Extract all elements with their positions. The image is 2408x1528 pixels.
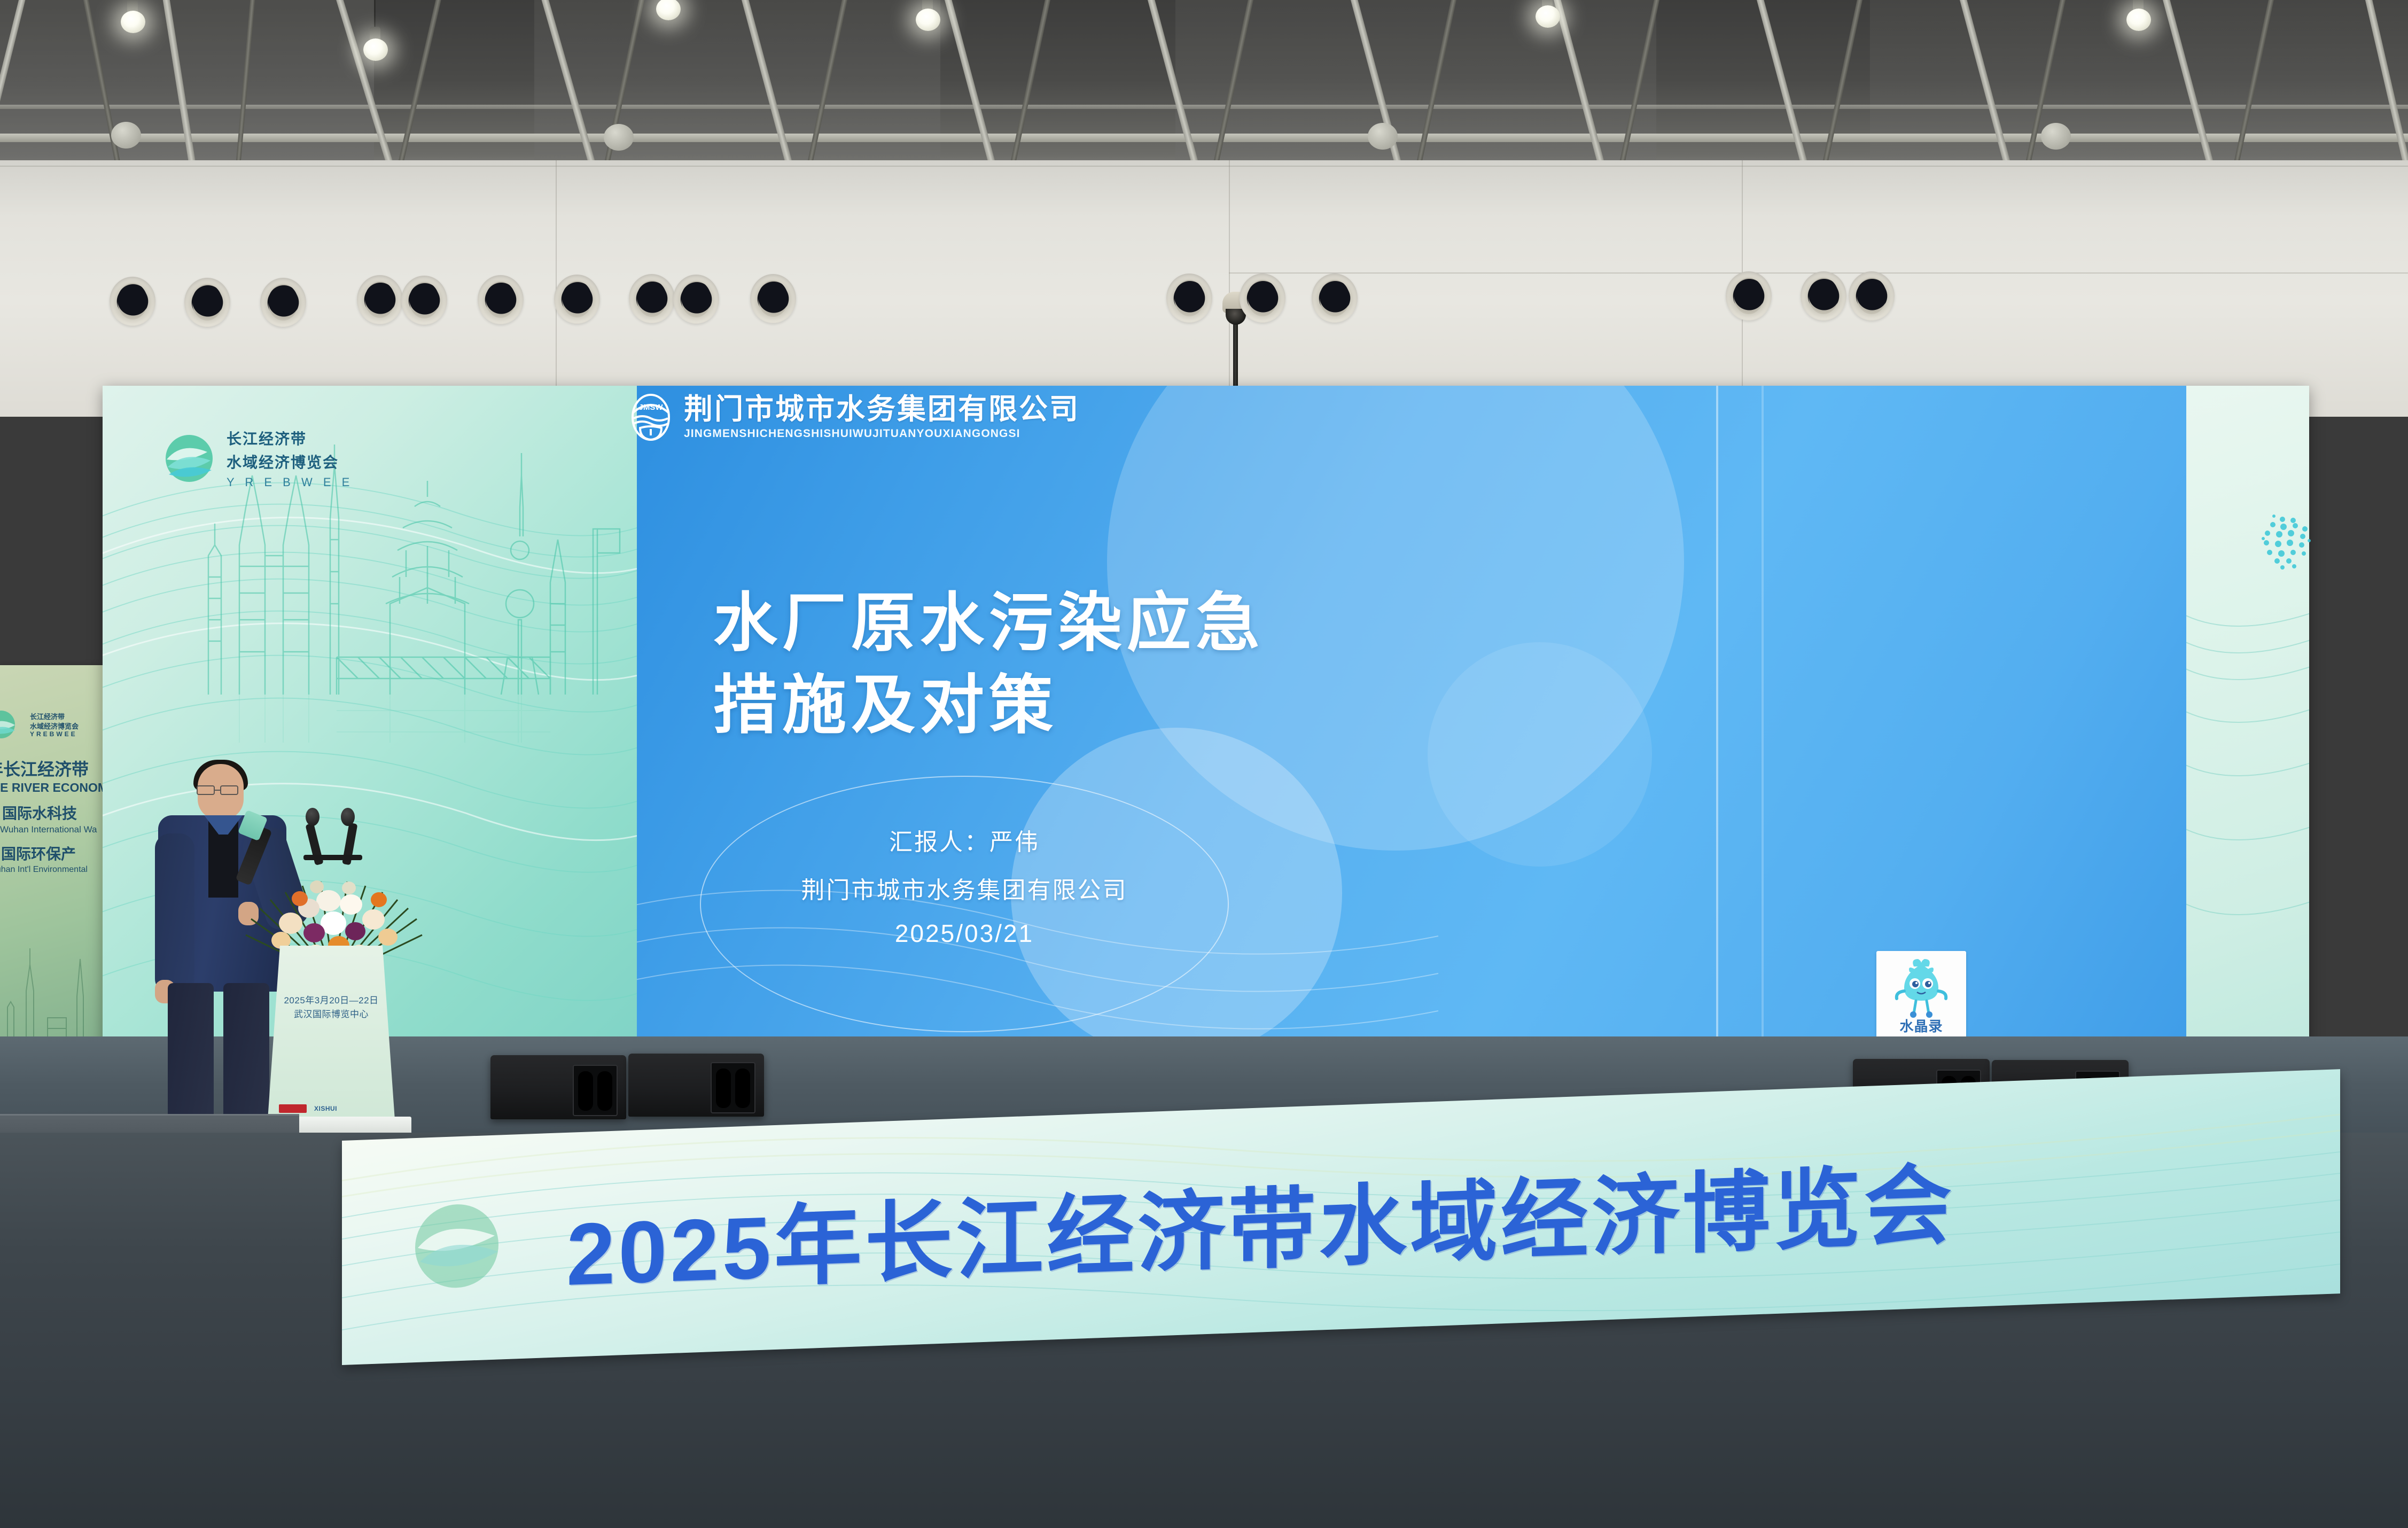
mascot-card: 水晶录 bbox=[1876, 951, 1966, 1044]
slide-title-line1: 水厂原水污染应急 bbox=[713, 582, 1265, 665]
slide-presenter: 汇报人：严伟 bbox=[743, 823, 1186, 857]
wall-vent-porthole bbox=[673, 275, 719, 324]
podium-date-line: 2025年3月20日—22日 bbox=[267, 993, 395, 1006]
jmsw-logo-icon: JMSW bbox=[626, 393, 675, 442]
side-banner-line1-cn: 年长江经济带 bbox=[0, 756, 89, 781]
podium-venue-line: 武汉国际博览中心 bbox=[267, 1007, 395, 1020]
wall-vent-porthole bbox=[1312, 274, 1358, 323]
mascot-label: 水晶录 bbox=[1899, 1016, 1943, 1035]
expo-globe-logo-icon bbox=[160, 430, 218, 487]
expo-logo-latin: Y R E B W E E bbox=[227, 475, 353, 489]
slide-organization: 荆门市城市水务集团有限公司 bbox=[743, 871, 1186, 905]
podium-lectern: 2025年3月20日—22日 武汉国际博览中心 XISHUI bbox=[267, 946, 395, 1127]
wall-vent-porthole bbox=[357, 275, 403, 324]
presenter-glasses-icon bbox=[197, 785, 245, 795]
company-name-cn: 荆门市城市水务集团有限公司 bbox=[684, 394, 1080, 425]
expo-logo-on-screen: 长江经济带 水域经济博览会 Y R E B W E E bbox=[160, 427, 353, 489]
side-banner-line2-en: Wuhan International Wa bbox=[0, 824, 97, 835]
led-right-panel bbox=[2186, 386, 2309, 1064]
wall-vent-porthole bbox=[260, 278, 306, 327]
side-banner-logo-cn2: 水域经济博览会 bbox=[30, 721, 79, 731]
wall-vent-porthole bbox=[1240, 274, 1285, 323]
slide-date: 2025/03/21 bbox=[743, 919, 1186, 948]
slide-title-line2: 措施及对策 bbox=[713, 665, 1265, 747]
podium-sponsor-logos: XISHUI bbox=[279, 1103, 384, 1114]
water-droplet-mascot-icon bbox=[1889, 955, 1953, 1018]
back-wall bbox=[0, 160, 2408, 417]
jmsw-mark-text: JMSW bbox=[639, 403, 664, 412]
expo-logo-cn-line1: 长江经济带 bbox=[227, 427, 353, 449]
side-banner-line3-cn: 国际环保产 bbox=[1, 843, 76, 864]
wall-vent-porthole bbox=[1166, 274, 1212, 323]
wall-vent-porthole bbox=[110, 277, 155, 326]
company-name-pinyin: JINGMENSHICHENGSHISHUIWUJITUANYOUXIANGON… bbox=[684, 427, 1080, 440]
presenter-left-arm bbox=[155, 833, 194, 994]
expo-logo-cn-line2: 水域经济博览会 bbox=[227, 451, 353, 472]
side-banner-line2-cn: 国际水科技 bbox=[2, 802, 77, 823]
slide-title: 水厂原水污染应急 措施及对策 bbox=[713, 582, 1265, 746]
wall-vent-porthole bbox=[750, 274, 796, 323]
wall-vent-porthole bbox=[1849, 271, 1895, 321]
slide-meta-block: 汇报人：严伟 荆门市城市水务集团有限公司 2025/03/21 bbox=[743, 823, 1186, 948]
side-banner-logo-latin: YREBWEE bbox=[30, 730, 77, 738]
wall-vent-porthole bbox=[1801, 271, 1846, 321]
wall-vent-porthole bbox=[401, 276, 447, 325]
wall-vent-porthole bbox=[478, 275, 524, 324]
wave-pattern-right-icon bbox=[2186, 386, 2309, 1064]
company-lockup: JMSW 荆门市城市水务集团有限公司 JINGMENSHICHENGSHISHU… bbox=[626, 393, 1080, 442]
ceiling-structure bbox=[0, 0, 2408, 176]
dotted-globe-icon bbox=[2253, 508, 2321, 576]
podium-sponsor-red-logo bbox=[279, 1104, 307, 1113]
podium-sponsor-text: XISHUI bbox=[314, 1105, 337, 1112]
podium-microphone-head bbox=[306, 808, 319, 826]
podium-mic-bar bbox=[303, 855, 362, 860]
banner-expo-logo-icon bbox=[406, 1194, 508, 1299]
side-banner-line3-en: Wuhan Int'l Environmental bbox=[0, 865, 88, 875]
stage-monitor-speaker bbox=[490, 1055, 626, 1119]
side-standee-banner: 长江经济带 水域经济博览会 YREBWEE 年长江经济带 TZE RIVER E… bbox=[0, 665, 104, 1077]
side-banner-line1-en: TZE RIVER ECONOMIC bbox=[0, 781, 104, 795]
wall-vent-porthole bbox=[184, 278, 230, 327]
wall-vent-porthole bbox=[554, 275, 600, 324]
stage-monitor-speaker bbox=[628, 1054, 764, 1117]
wall-vent-porthole bbox=[1726, 271, 1772, 321]
podium-microphone-head bbox=[341, 808, 355, 826]
conference-stage-photo: 长江经济带 水域经济博览会 YREBWEE 年长江经济带 TZE RIVER E… bbox=[0, 0, 2408, 1528]
wall-vent-porthole bbox=[629, 274, 675, 323]
side-banner-logo-cn1: 长江经济带 bbox=[30, 711, 65, 721]
